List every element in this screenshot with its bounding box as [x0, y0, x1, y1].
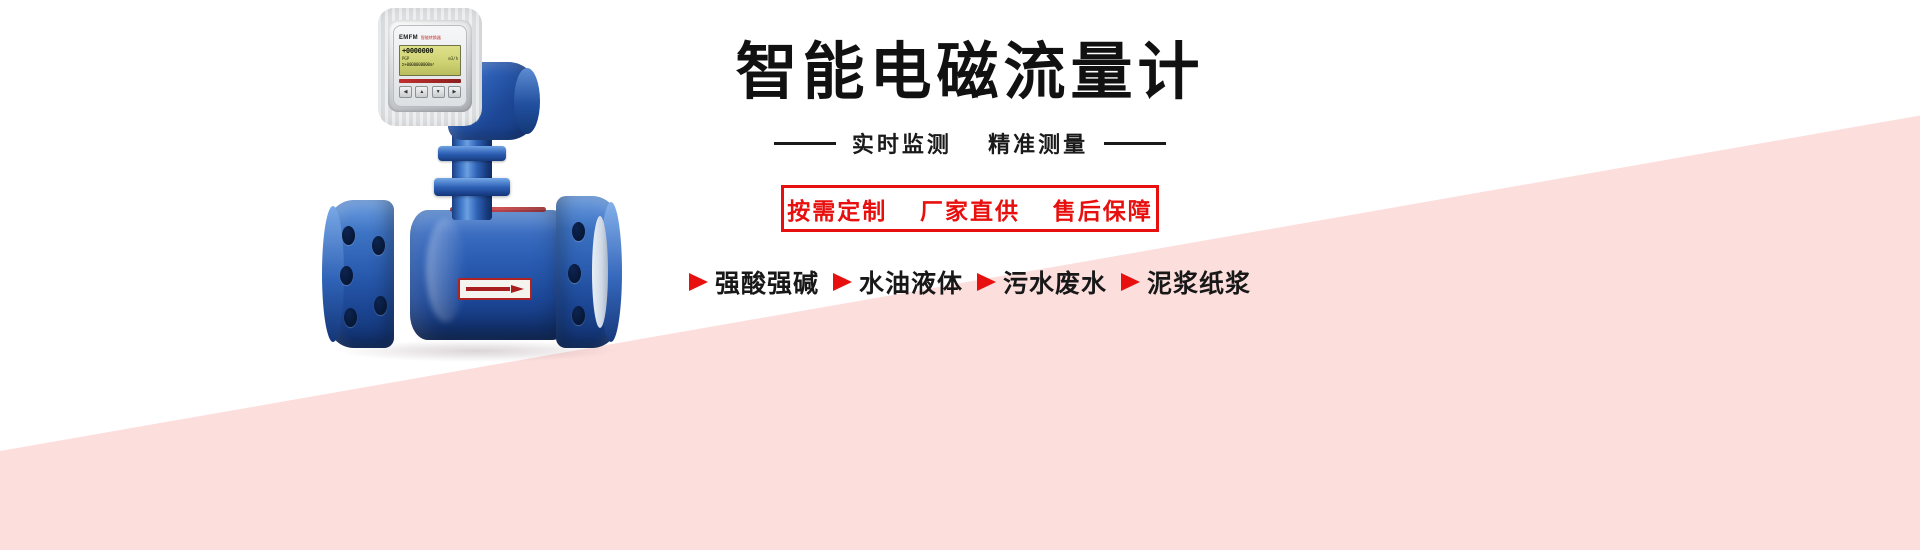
- badge-item-factory: 厂家直供: [920, 198, 1020, 224]
- bolt-hole: [572, 222, 585, 241]
- feature-item-slurry-pulp: 泥浆纸浆: [1121, 264, 1251, 300]
- banner-title: 智能电磁流量计: [660, 40, 1280, 105]
- subtitle-rule-left: [774, 142, 836, 145]
- standoff-flange-lower: [434, 178, 510, 196]
- feature-label: 泥浆纸浆: [1147, 264, 1251, 300]
- badge-item-warranty: 售后保障: [1053, 198, 1153, 224]
- flow-direction-plate: [458, 278, 532, 300]
- promo-banner: EMFM 智能转换器 +0000000 PGP m3/h Σ+000000000…: [0, 0, 1920, 550]
- bolt-hole: [568, 264, 581, 283]
- banner-text-block: 智能电磁流量计 实时监测 精准测量 按需定制 厂家直供 售后保障 强酸强碱: [660, 40, 1280, 300]
- bolt-hole: [374, 296, 387, 315]
- converter-brand-sublabel: 智能转换器: [421, 36, 441, 40]
- converter-brand-label: EMFM: [399, 35, 418, 41]
- feature-item-acid-alkali: 强酸强碱: [689, 264, 819, 300]
- bolt-hole: [572, 306, 585, 325]
- pipe-liner-ring: [592, 216, 608, 328]
- subtitle-text-right: 精准测量: [988, 132, 1088, 157]
- banner-subtitle: 实时监测 精准测量: [852, 127, 1088, 159]
- lcd-unit-label: m3/h: [448, 56, 458, 62]
- feature-label: 强酸强碱: [715, 264, 819, 300]
- bolt-hole: [340, 266, 353, 285]
- arrow-bullet-icon: [689, 273, 708, 291]
- feature-item-sewage: 污水废水: [977, 264, 1107, 300]
- standoff-flange-upper: [438, 146, 506, 161]
- bolt-hole: [344, 308, 357, 327]
- product-image-flowmeter: EMFM 智能转换器 +0000000 PGP m3/h Σ+000000000…: [300, 0, 640, 440]
- keypad-button-up[interactable]: ▲: [415, 86, 428, 98]
- converter-keypad: ◀ ▲ ▼ ▶: [399, 86, 461, 98]
- lcd-primary-reading: +0000000: [402, 47, 458, 56]
- feature-list: 强酸强碱 水油液体 污水废水 泥浆纸浆: [660, 264, 1280, 300]
- junction-housing-cap: [514, 68, 540, 134]
- arrow-bullet-icon: [833, 273, 852, 291]
- subtitle-rule-right: [1104, 142, 1166, 145]
- feature-item-water-oil: 水油液体: [833, 264, 963, 300]
- lcd-totalizer-reading: Σ+0000000000m³: [402, 62, 458, 68]
- subtitle-text-left: 实时监测: [852, 132, 952, 157]
- flowmeter-body-highlight: [426, 218, 466, 322]
- converter-brand-row: EMFM 智能转换器: [399, 33, 461, 42]
- keypad-button-down[interactable]: ▼: [432, 86, 445, 98]
- service-badge-box: 按需定制 厂家直供 售后保障: [781, 185, 1159, 232]
- arrow-bullet-icon: [1121, 273, 1140, 291]
- keypad-button-left[interactable]: ◀: [399, 86, 412, 98]
- banner-subtitle-row: 实时监测 精准测量: [660, 127, 1280, 159]
- feature-label: 污水废水: [1003, 264, 1107, 300]
- keypad-button-right[interactable]: ▶: [448, 86, 461, 98]
- flow-arrow-icon: [466, 285, 524, 294]
- feature-label: 水油液体: [859, 264, 963, 300]
- badge-item-custom: 按需定制: [787, 198, 887, 224]
- bolt-hole: [342, 226, 355, 245]
- arrow-bullet-icon: [977, 273, 996, 291]
- service-badge-text: 按需定制 厂家直供 售后保障: [787, 192, 1153, 226]
- bolt-hole: [372, 236, 385, 255]
- converter-key-strip: [399, 79, 461, 83]
- converter-lcd-display: +0000000 PGP m3/h Σ+0000000000m³: [399, 45, 461, 76]
